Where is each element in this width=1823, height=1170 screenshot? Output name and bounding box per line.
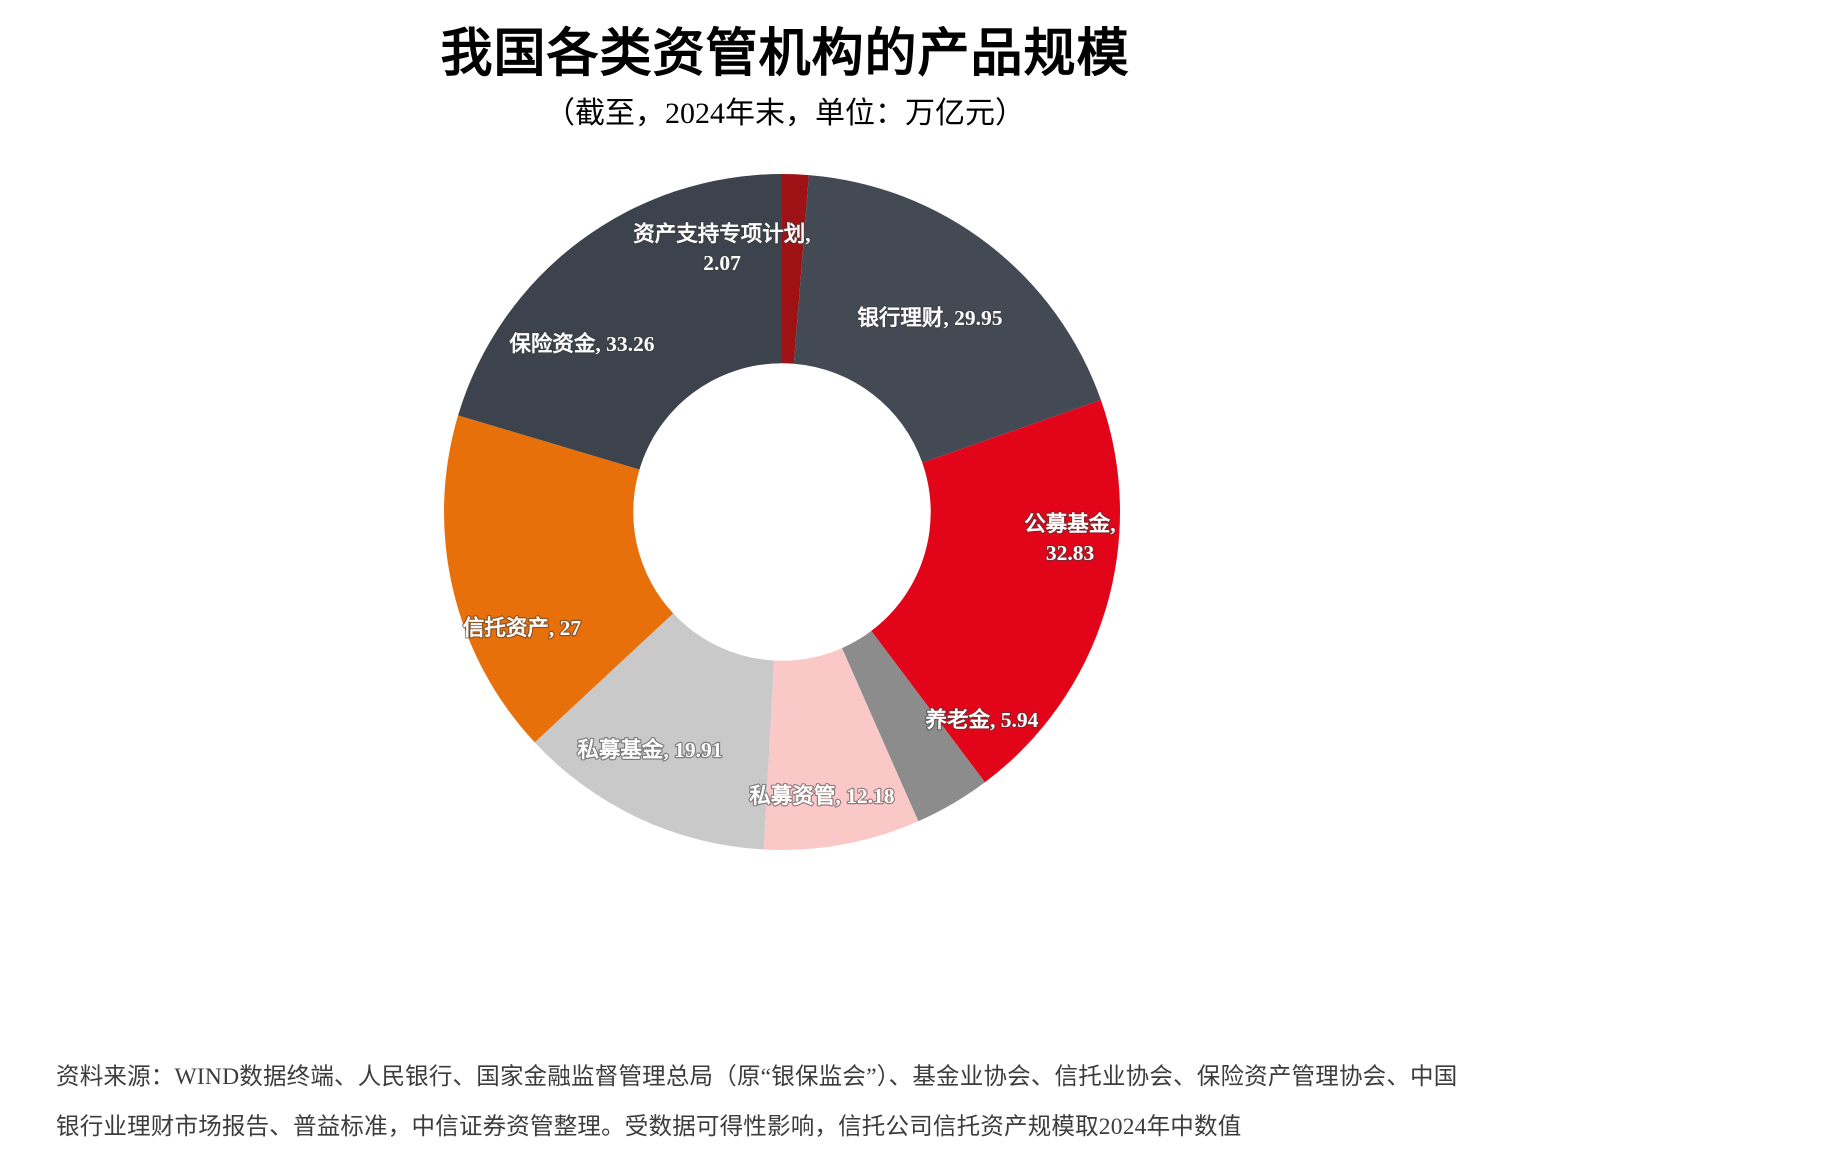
- slice-label: 信托资产, 27: [463, 615, 582, 640]
- page-title: 我国各类资管机构的产品规模: [0, 24, 1570, 86]
- donut-slice[interactable]: [458, 174, 782, 469]
- donut-chart: 资产支持专项计划,2.07银行理财, 29.95公募基金,32.83养老金, 5…: [402, 160, 1162, 870]
- source-note-line-2: 银行业理财市场报告、普益标准，中信证券资管整理。受数据可得性影响，信托公司信托资…: [56, 1102, 1786, 1152]
- chart-header: 我国各类资管机构的产品规模 （截至，2024年末，单位：万亿元）: [0, 24, 1570, 136]
- slice-label: 银行理财, 29.95: [857, 305, 1002, 330]
- slice-label: 私募资管, 12.18: [749, 783, 894, 808]
- source-note-line-1: 资料来源：WIND数据终端、人民银行、国家金融监督管理总局（原“银保监会”）、基…: [56, 1052, 1786, 1102]
- chart-page: 我国各类资管机构的产品规模 （截至，2024年末，单位：万亿元） 资产支持专项计…: [0, 0, 1823, 1170]
- slice-label: 保险资金, 33.26: [508, 331, 654, 356]
- chart-subtitle: （截至，2024年末，单位：万亿元）: [0, 92, 1570, 136]
- slice-label: 养老金, 5.94: [926, 707, 1039, 732]
- donut-slices: [444, 174, 1120, 850]
- source-note: 资料来源：WIND数据终端、人民银行、国家金融监督管理总局（原“银保监会”）、基…: [56, 1052, 1786, 1152]
- donut-chart-svg: 资产支持专项计划,2.07银行理财, 29.95公募基金,32.83养老金, 5…: [402, 160, 1162, 870]
- slice-label: 私募基金, 19.91: [577, 737, 722, 762]
